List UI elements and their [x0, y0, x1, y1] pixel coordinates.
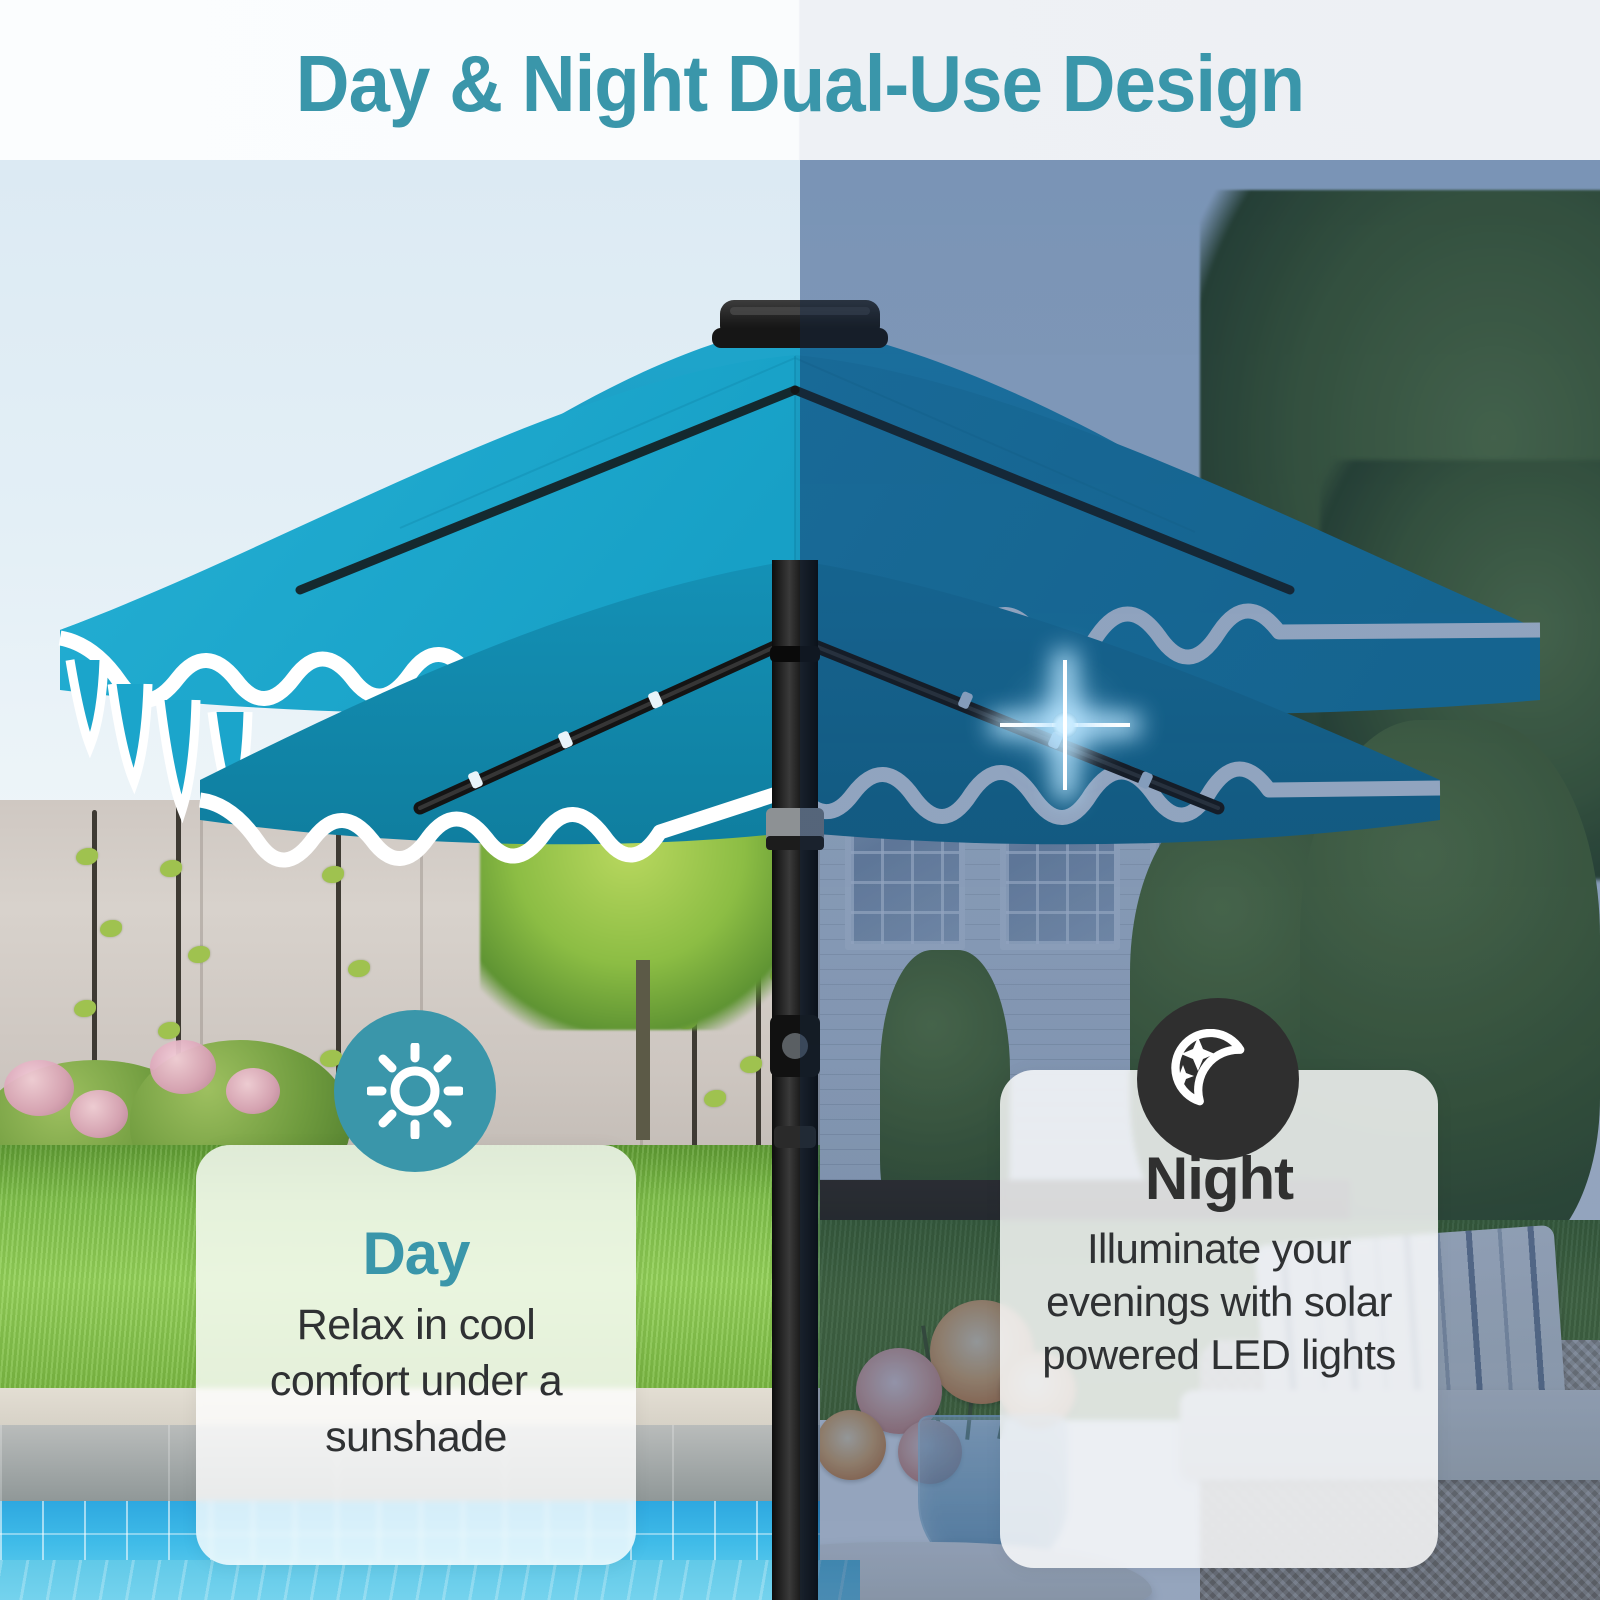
night-icon-badge [1137, 998, 1299, 1160]
night-card-body: Illuminate your evenings with solar powe… [1020, 1223, 1418, 1382]
header-band: Day & Night Dual-Use Design [0, 0, 1600, 160]
product-feature-image: Day Relax in cool comfort under a sunsha… [0, 0, 1600, 1600]
scene-photo: Day Relax in cool comfort under a sunsha… [0, 160, 1600, 1600]
moon-stars-icon [1168, 1029, 1268, 1129]
page-title: Day & Night Dual-Use Design [56, 0, 1544, 160]
day-card-title: Day [362, 1223, 469, 1284]
day-card-body: Relax in cool comfort under a sunshade [222, 1298, 610, 1466]
sun-icon [367, 1043, 463, 1139]
day-info-card: Day Relax in cool comfort under a sunsha… [196, 1145, 636, 1565]
day-icon-badge [334, 1010, 496, 1172]
